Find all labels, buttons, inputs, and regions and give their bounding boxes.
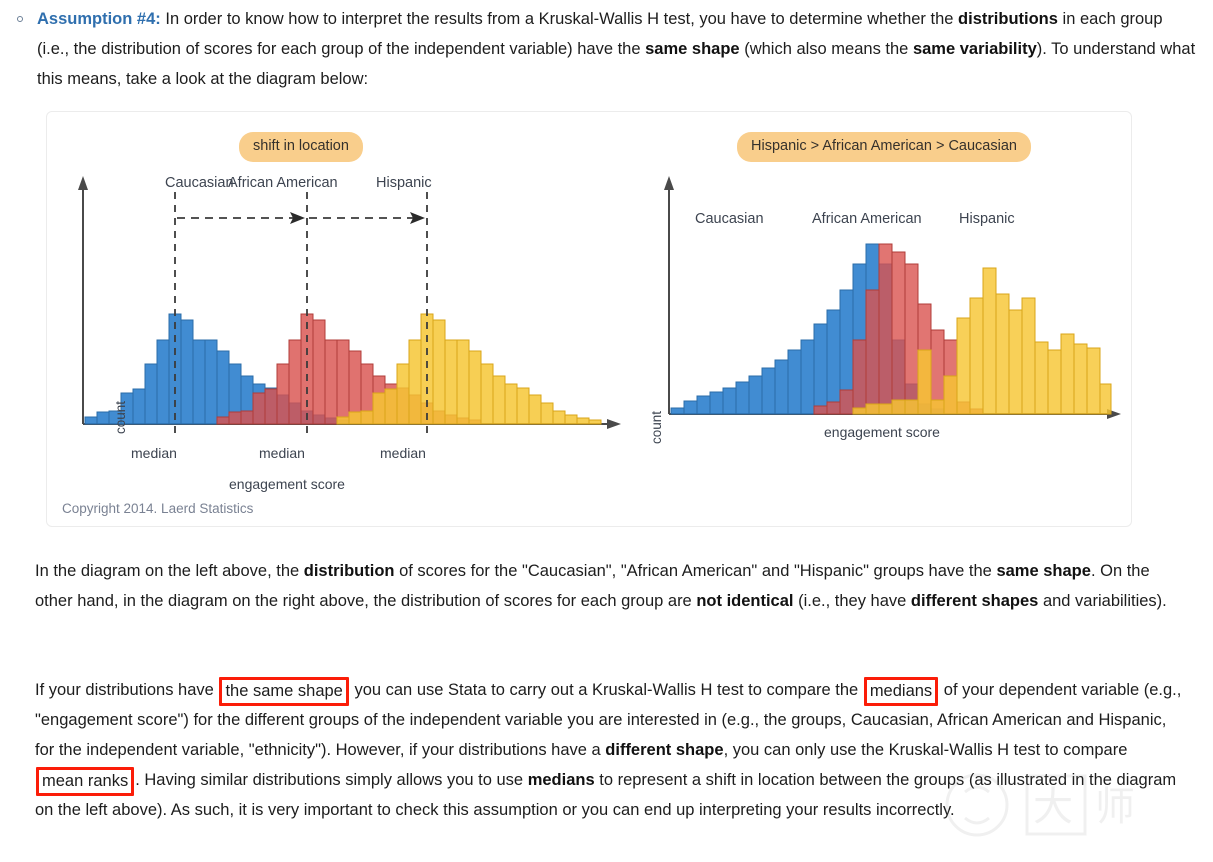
chart-right-group-label-caucasian: Caucasian — [695, 211, 764, 227]
p2-bold-medians: medians — [528, 771, 595, 789]
p2-text-2: you can use Stata to carry out a Kruskal… — [350, 681, 863, 699]
p2-text-1: If your distributions have — [35, 681, 218, 699]
chart-left-pill-label: shift in location — [239, 132, 363, 162]
chart-left-group-label-hispanic: Hispanic — [376, 175, 432, 191]
chart-right-group-label-african-american: African American — [812, 211, 922, 227]
chart-right-group-label-hispanic: Hispanic — [959, 211, 1015, 227]
assumption-block: Assumption #4: In order to know how to i… — [17, 4, 1197, 94]
assumption-heading: Assumption #4: — [37, 10, 161, 28]
highlight-medians: medians — [864, 677, 938, 706]
chart-right-pill-label: Hispanic > African American > Caucasian — [737, 132, 1031, 162]
charts-row: shift in location Caucasian African Amer… — [47, 112, 1131, 487]
p1-bold-not-identical: not identical — [696, 592, 793, 610]
chart-left-shift-arrows — [177, 212, 425, 224]
assumption-bold-same-variability: same variability — [913, 40, 1037, 58]
p1-text-2: of scores for the "Caucasian", "African … — [395, 562, 997, 580]
p2-text-4: , you can only use the Kruskal-Wallis H … — [724, 741, 1128, 759]
page-root: Assumption #4: In order to know how to i… — [0, 0, 1213, 862]
p1-text-4: (i.e., they have — [794, 592, 911, 610]
circle-bullet-icon — [17, 16, 23, 22]
body-paragraph-2: If your distributions have the same shap… — [35, 675, 1185, 825]
chart-different-shape: Hispanic > African American > Caucasian … — [637, 112, 1133, 487]
chart-left-xlabel: engagement score — [229, 476, 345, 492]
figure-copyright: Copyright 2014. Laerd Statistics — [62, 501, 253, 516]
highlight-the-same-shape: the same shape — [219, 677, 348, 706]
p1-bold-distribution: distribution — [304, 562, 395, 580]
p1-bold-same-shape: same shape — [996, 562, 1090, 580]
p2-text-5: . Having similar distributions simply al… — [135, 771, 527, 789]
chart-left-group-label-caucasian: Caucasian — [165, 175, 234, 191]
chart-left-median-label-1: median — [131, 445, 177, 461]
highlight-mean-ranks: mean ranks — [36, 767, 134, 796]
p1-bold-different-shapes: different shapes — [911, 592, 1038, 610]
chart-left-group-label-african-american: African American — [228, 175, 338, 191]
p2-bold-different-shape: different shape — [605, 741, 723, 759]
p1-text-1: In the diagram on the left above, the — [35, 562, 304, 580]
chart-left-median-label-3: median — [380, 445, 426, 461]
chart-left-median-label-2: median — [259, 445, 305, 461]
chart-left-bars-hispanic — [337, 314, 601, 424]
assumption-text-3: (which also means the — [740, 40, 913, 58]
assumption-bold-distributions: distributions — [958, 10, 1058, 28]
assumption-bold-same-shape: same shape — [645, 40, 739, 58]
chart-right-xlabel: engagement score — [824, 424, 940, 440]
assumption-text-1: In order to know how to interpret the re… — [161, 10, 958, 28]
assumption-paragraph: Assumption #4: In order to know how to i… — [37, 4, 1197, 94]
diagram-figure-card: shift in location Caucasian African Amer… — [46, 111, 1132, 527]
chart-right-ylabel: count — [649, 411, 664, 444]
chart-left-plot — [47, 112, 637, 472]
chart-same-shape: shift in location Caucasian African Amer… — [47, 112, 637, 487]
chart-left-ylabel: count — [113, 401, 128, 434]
body-paragraph-1: In the diagram on the left above, the di… — [35, 556, 1185, 616]
p1-text-5: and variabilities). — [1038, 592, 1166, 610]
